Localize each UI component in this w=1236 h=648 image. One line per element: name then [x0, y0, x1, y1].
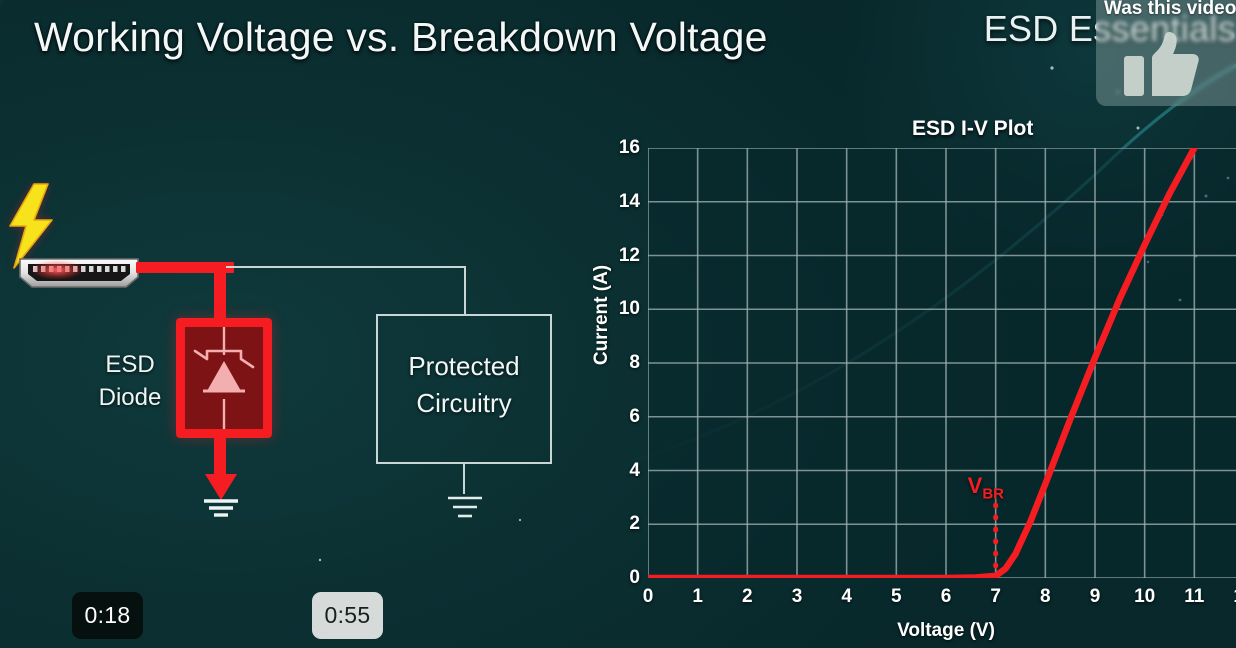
esd-diode-block — [176, 318, 272, 438]
chart-y-tick: 12 — [600, 245, 640, 267]
esd-path-wire-vertical — [214, 262, 226, 324]
tvs-diode-icon — [185, 327, 263, 429]
chart-x-tick: 10 — [1130, 586, 1160, 608]
chart-y-tick: 10 — [600, 298, 640, 320]
chart-x-tick: 4 — [832, 586, 862, 608]
signal-wire-vertical — [464, 266, 466, 314]
hdmi-connector-icon — [14, 255, 144, 291]
breakdown-voltage-label: VBR — [968, 473, 1004, 502]
protected-circuitry-label: Protected Circuitry — [376, 348, 552, 422]
circuit-diagram: ESD Diode Protected Circuitry — [0, 100, 610, 560]
video-frame: Working Voltage vs. Breakdown Voltage ES… — [0, 0, 1236, 648]
chart-x-tick: 12 — [1229, 586, 1236, 608]
marker-time-badge[interactable]: 0:55 — [312, 592, 383, 639]
protected-label-line2: Circuitry — [376, 385, 552, 422]
chart-x-tick: 1 — [683, 586, 713, 608]
chart-x-tick: 6 — [931, 586, 961, 608]
esd-diode-label-line1: ESD — [88, 348, 172, 381]
signal-wire-horizontal — [226, 266, 466, 268]
vbr-subscript-text: BR — [982, 486, 1004, 503]
chart-gridlines — [648, 148, 1236, 578]
chart-x-tick: 11 — [1179, 586, 1209, 608]
vbr-main-text: V — [968, 473, 983, 498]
esd-diode-label-line2: Diode — [88, 381, 172, 414]
chart-y-tick: 14 — [600, 191, 640, 213]
esd-iv-chart: ESD I-V Plot Current (A) Voltage (V) 024… — [580, 108, 1236, 648]
chart-x-tick: 5 — [881, 586, 911, 608]
chart-plot-area — [648, 148, 1236, 578]
thumbs-up-icon[interactable] — [1124, 30, 1204, 106]
chart-x-tick: 7 — [981, 586, 1011, 608]
protected-label-line1: Protected — [376, 348, 552, 385]
survey-prompt-text: Was this video — [1104, 0, 1236, 20]
ground-symbol-icon-red — [196, 470, 246, 520]
chart-y-tick: 4 — [600, 460, 640, 482]
chart-y-tick: 8 — [600, 352, 640, 374]
chart-title: ESD I-V Plot — [580, 117, 1236, 141]
chart-y-tick: 2 — [600, 513, 640, 535]
chart-x-tick: 9 — [1080, 586, 1110, 608]
ground-symbol-icon-white — [442, 490, 488, 530]
chart-x-tick: 3 — [782, 586, 812, 608]
chart-y-tick: 16 — [600, 137, 640, 159]
chart-x-tick: 0 — [633, 586, 663, 608]
chart-y-tick: 6 — [600, 406, 640, 428]
chart-x-tick: 2 — [732, 586, 762, 608]
video-survey-overlay[interactable]: Was this video — [1096, 0, 1236, 106]
chart-x-axis-label: Voltage (V) — [648, 620, 1236, 642]
chart-x-tick: 8 — [1030, 586, 1060, 608]
esd-diode-label: ESD Diode — [88, 348, 172, 414]
page-title: Working Voltage vs. Breakdown Voltage — [34, 14, 768, 61]
current-time-badge[interactable]: 0:18 — [72, 592, 143, 639]
